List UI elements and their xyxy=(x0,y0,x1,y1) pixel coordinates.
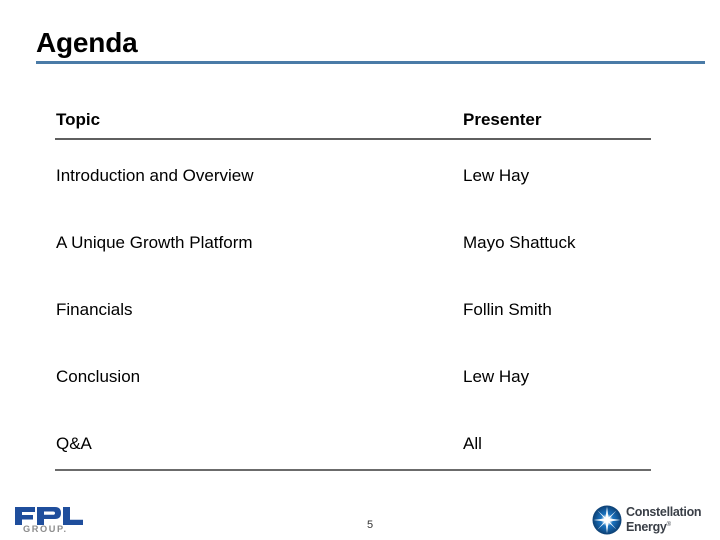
cell-presenter: Mayo Shattuck xyxy=(463,233,575,253)
constellation-wordmark: Constellation Energy® xyxy=(626,506,701,534)
cell-presenter: Follin Smith xyxy=(463,300,552,320)
column-header-topic: Topic xyxy=(56,110,100,130)
fpl-logo-icon: GROUP. xyxy=(14,505,86,533)
presentation-slide: Agenda Topic Presenter Introduction and … xyxy=(0,0,720,540)
table-bottom-rule xyxy=(55,469,651,471)
cell-topic: A Unique Growth Platform xyxy=(56,233,253,253)
title-underline-rule xyxy=(36,61,705,64)
svg-text:GROUP.: GROUP. xyxy=(23,524,68,533)
table-row: Introduction and Overview Lew Hay xyxy=(55,166,651,233)
table-body: Introduction and Overview Lew Hay A Uniq… xyxy=(55,166,651,501)
table-row: A Unique Growth Platform Mayo Shattuck xyxy=(55,233,651,300)
cell-topic: Introduction and Overview xyxy=(56,166,254,186)
registered-trademark-icon: ® xyxy=(667,522,671,528)
table-row: Conclusion Lew Hay xyxy=(55,367,651,434)
constellation-energy-text: Energy xyxy=(626,520,667,534)
table-row: Financials Follin Smith xyxy=(55,300,651,367)
constellation-starburst-icon xyxy=(592,505,622,535)
table-header-row: Topic Presenter xyxy=(55,110,651,139)
constellation-wordmark-line1: Constellation xyxy=(626,506,701,519)
cell-topic: Q&A xyxy=(56,434,92,454)
column-header-presenter: Presenter xyxy=(463,110,541,130)
constellation-energy-logo: Constellation Energy® xyxy=(592,503,710,537)
cell-presenter: Lew Hay xyxy=(463,367,529,387)
table-row: Q&A All xyxy=(55,434,651,501)
agenda-table: Topic Presenter Introduction and Overvie… xyxy=(55,110,651,139)
fpl-group-logo: GROUP. xyxy=(14,505,86,533)
cell-presenter: Lew Hay xyxy=(463,166,529,186)
cell-presenter: All xyxy=(463,434,482,454)
constellation-wordmark-line2: Energy® xyxy=(626,519,701,534)
page-title: Agenda xyxy=(36,26,137,60)
cell-topic: Conclusion xyxy=(56,367,140,387)
cell-topic: Financials xyxy=(56,300,133,320)
table-header-rule xyxy=(55,138,651,140)
